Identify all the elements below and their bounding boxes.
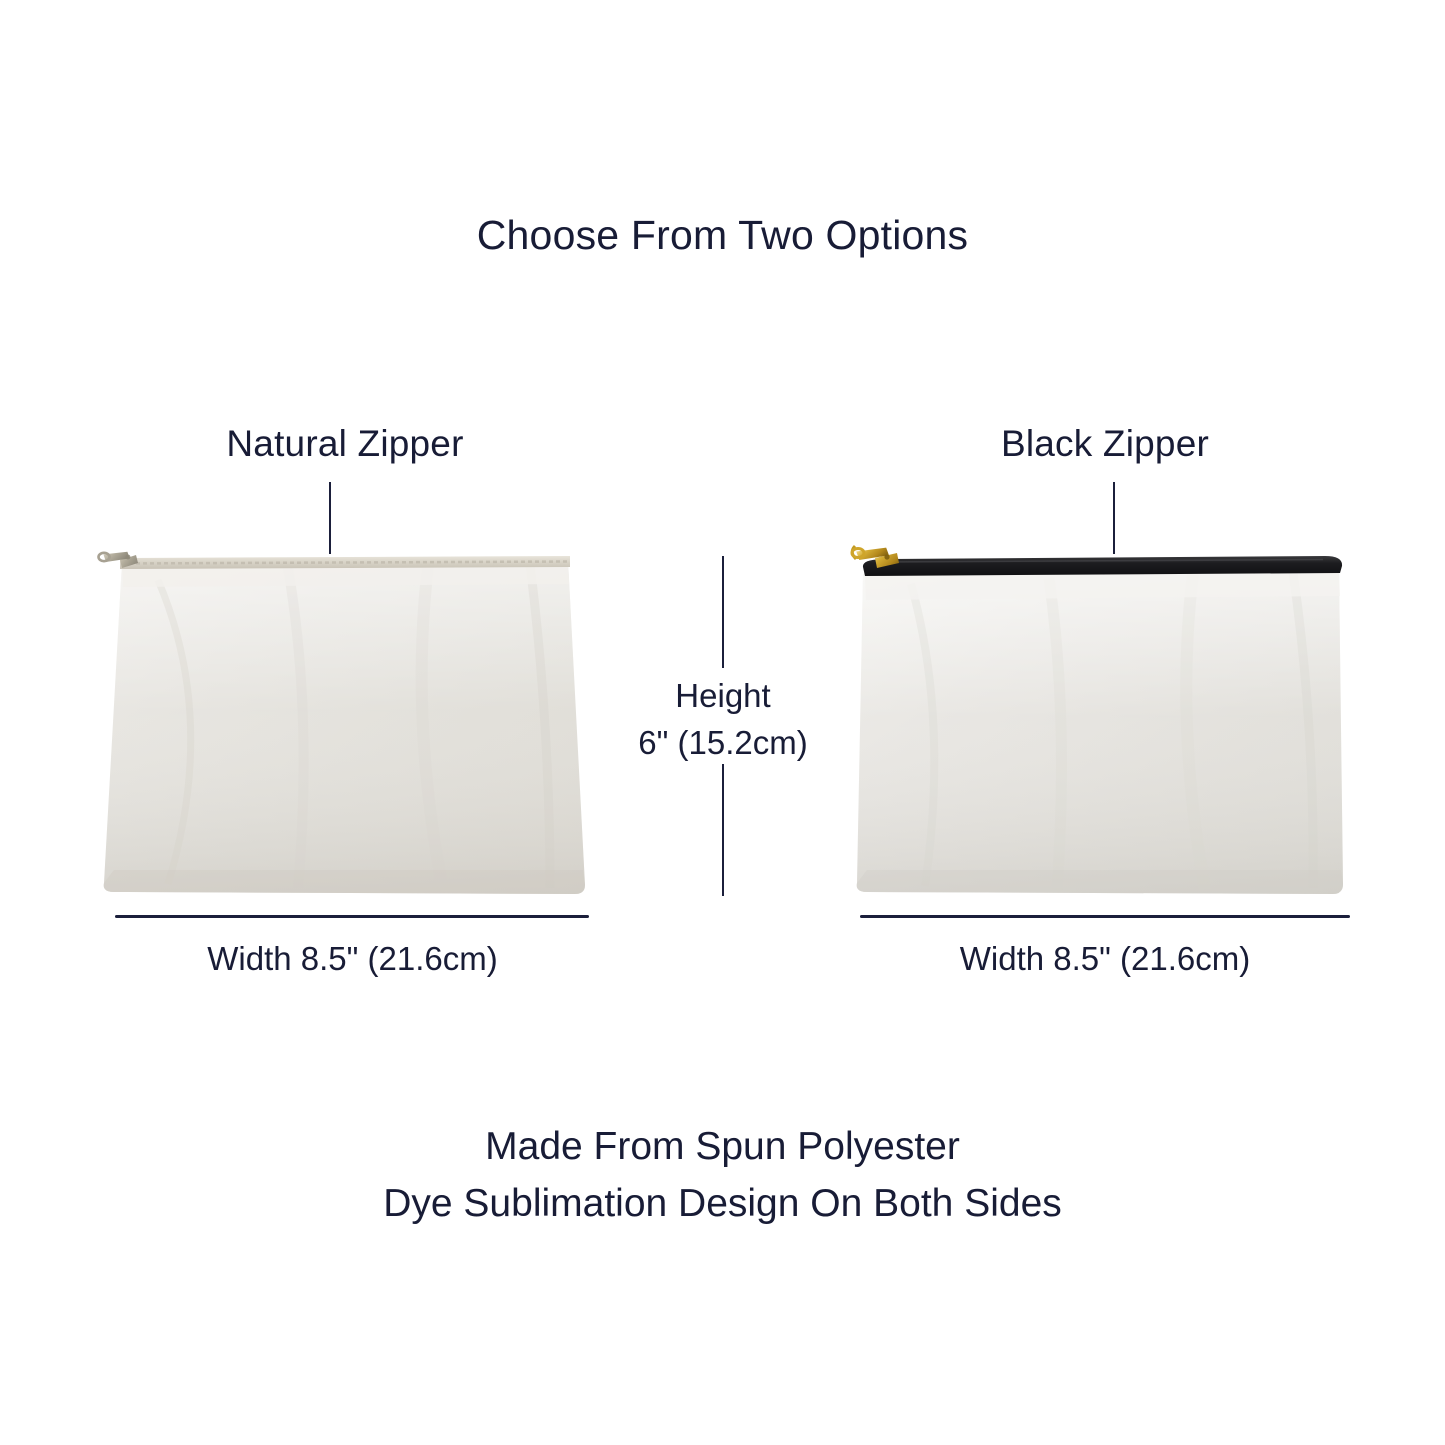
option-label-black-zipper: Black Zipper — [855, 423, 1355, 465]
height-value: 6" (15.2cm) — [638, 724, 807, 761]
pouch-illustration-natural — [98, 540, 590, 898]
pouch-illustration-black — [853, 540, 1349, 898]
height-title: Height — [675, 677, 770, 714]
option-label-natural-zipper: Natural Zipper — [95, 423, 595, 465]
infographic-canvas: Choose From Two Options Natural Zipper — [0, 0, 1445, 1445]
width-measure-line-natural — [115, 915, 589, 918]
product-description: Made From Spun Polyester Dye Sublimation… — [0, 1118, 1445, 1232]
width-label-black: Width 8.5" (21.6cm) — [830, 940, 1380, 978]
product-image-natural-zipper-pouch — [98, 540, 590, 898]
height-measure-line-bottom — [722, 764, 724, 896]
width-measure-line-black — [860, 915, 1350, 918]
description-line-1: Made From Spun Polyester — [485, 1125, 960, 1168]
page-title: Choose From Two Options — [0, 212, 1445, 259]
height-label: Height 6" (15.2cm) — [573, 672, 873, 766]
product-image-black-zipper-pouch — [853, 540, 1349, 898]
description-line-2: Dye Sublimation Design On Both Sides — [383, 1182, 1062, 1225]
height-measure-line-top — [722, 556, 724, 668]
width-label-natural: Width 8.5" (21.6cm) — [80, 940, 625, 978]
